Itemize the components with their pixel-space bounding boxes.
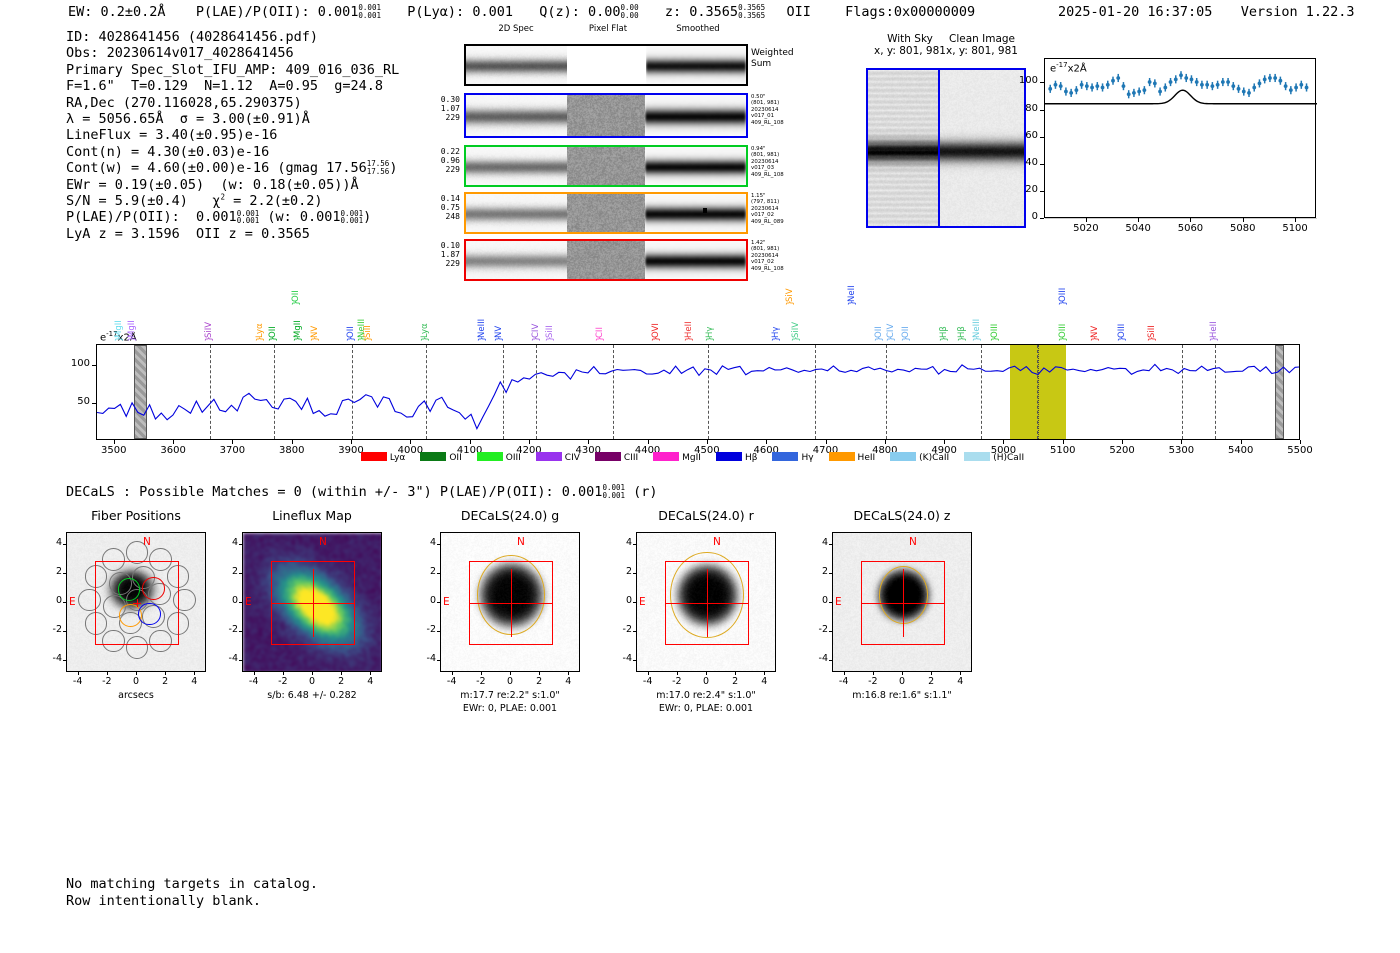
thumbnail-ytick: 2 xyxy=(218,566,238,577)
thumbnail-ytick: 2 xyxy=(42,566,62,577)
thumbnail-ytick-mark xyxy=(633,573,636,574)
thumbnail-ytick-mark xyxy=(239,602,242,603)
thumbnail-ytick-mark xyxy=(239,544,242,545)
thumbnail-xtick-mark xyxy=(873,672,874,675)
thumbnail-image xyxy=(636,532,776,672)
thumbnail-ytick: -2 xyxy=(42,624,62,635)
thumbnail-ytick-mark xyxy=(829,544,832,545)
thumbnail-ytick-mark xyxy=(633,631,636,632)
thumbnail-xtick-mark xyxy=(706,672,707,675)
thumbnail-ytick-mark xyxy=(63,573,66,574)
thumbnail-xtick: 0 xyxy=(122,676,150,687)
thumbnail-ytick-mark xyxy=(63,660,66,661)
thumbnail-xtick-mark xyxy=(539,672,540,675)
thumbnail-xtick-mark xyxy=(283,672,284,675)
thumbnail-ytick-mark xyxy=(829,660,832,661)
thumbnail-caption: s/b: 6.48 +/- 0.282 xyxy=(208,690,416,702)
thumbnail-title: DECaLS(24.0) z xyxy=(802,508,1002,523)
thumbnail-ytick-mark xyxy=(437,660,440,661)
thumbnail-xtick-mark xyxy=(677,672,678,675)
thumbnail-xtick: -4 xyxy=(634,676,662,687)
thumbnail-caption-secondary: EWr: 0, PLAE: 0.001 xyxy=(406,703,614,715)
thumbnail-xtick: 4 xyxy=(946,676,974,687)
thumbnail-ytick-mark xyxy=(633,602,636,603)
thumbnail-title: DECaLS(24.0) g xyxy=(410,508,610,523)
thumbnail-ytick-mark xyxy=(437,544,440,545)
thumbnail-xtick: -4 xyxy=(830,676,858,687)
aperture-box xyxy=(665,561,750,646)
thumbnail-image xyxy=(832,532,972,672)
compass-east-label: E xyxy=(443,596,450,608)
thumbnail-xtick-mark xyxy=(194,672,195,675)
thumbnail-image xyxy=(242,532,382,672)
thumbnail-ytick-mark xyxy=(437,631,440,632)
thumbnail-ytick-mark xyxy=(239,573,242,574)
thumbnail-ytick: 0 xyxy=(218,595,238,606)
thumbnail-xtick: -2 xyxy=(859,676,887,687)
thumbnail-xtick-mark xyxy=(136,672,137,675)
thumbnail-xtick-mark xyxy=(510,672,511,675)
thumbnail-image xyxy=(440,532,580,672)
thumbnail-ytick-mark xyxy=(239,660,242,661)
aperture-box xyxy=(271,561,356,646)
thumbnail-xtick-mark xyxy=(931,672,932,675)
compass-east-label: E xyxy=(245,596,252,608)
thumbnail-xtick-mark xyxy=(735,672,736,675)
compass-north-label: N xyxy=(909,536,917,548)
thumbnail-xtick-mark xyxy=(452,672,453,675)
thumbnail-xtick-mark xyxy=(254,672,255,675)
compass-east-label: E xyxy=(639,596,646,608)
thumbnail-ytick-mark xyxy=(829,573,832,574)
thumbnail-row: Fiber PositionsNE-4-4-2-2002244arcsecsLi… xyxy=(0,0,1400,953)
thumbnail-xtick-mark xyxy=(370,672,371,675)
thumbnail-xtick: 4 xyxy=(356,676,384,687)
thumbnail-ytick: -4 xyxy=(42,653,62,664)
thumbnail-ytick: 4 xyxy=(612,537,632,548)
thumbnail-ytick: -2 xyxy=(218,624,238,635)
thumbnail-title: Fiber Positions xyxy=(36,508,236,523)
thumbnail-ytick: 4 xyxy=(42,537,62,548)
thumbnail-xtick: -2 xyxy=(663,676,691,687)
compass-north-label: N xyxy=(319,536,327,548)
thumbnail-xtick: 2 xyxy=(525,676,553,687)
thumbnail-xlabel: arcsecs xyxy=(36,690,236,702)
compass-north-label: N xyxy=(143,536,151,548)
thumbnail-ytick-mark xyxy=(437,602,440,603)
footer-line-1: No matching targets in catalog. xyxy=(66,876,318,893)
thumbnail-xtick: -4 xyxy=(240,676,268,687)
compass-east-label: E xyxy=(69,596,76,608)
thumbnail-xtick-mark xyxy=(107,672,108,675)
thumbnail-xtick-mark xyxy=(341,672,342,675)
compass-north-label: N xyxy=(713,536,721,548)
thumbnail-ytick-mark xyxy=(633,544,636,545)
thumbnail-xtick: 0 xyxy=(692,676,720,687)
thumbnail-ytick: 4 xyxy=(808,537,828,548)
thumbnail-ytick-mark xyxy=(63,544,66,545)
thumbnail-ytick-mark xyxy=(437,573,440,574)
thumbnail-xtick-mark xyxy=(648,672,649,675)
thumbnail-ytick: -4 xyxy=(612,653,632,664)
footer-line-2: Row intentionally blank. xyxy=(66,893,318,910)
thumbnail-xtick: 4 xyxy=(750,676,778,687)
thumbnail-xtick: 2 xyxy=(721,676,749,687)
thumbnail-ytick-mark xyxy=(829,631,832,632)
thumbnail-ytick: -4 xyxy=(416,653,436,664)
thumbnail-caption: m:16.8 re:1.6" s:1.1" xyxy=(798,690,1006,702)
thumbnail-title: Lineflux Map xyxy=(212,508,412,523)
thumbnail-ytick: 0 xyxy=(808,595,828,606)
thumbnail-ytick: -2 xyxy=(808,624,828,635)
thumbnail-ytick: 2 xyxy=(416,566,436,577)
thumbnail-xtick: 4 xyxy=(554,676,582,687)
aperture-box xyxy=(861,561,946,646)
thumbnail-xtick: -2 xyxy=(269,676,297,687)
thumbnail-ytick-mark xyxy=(63,602,66,603)
thumbnail-xtick-mark xyxy=(844,672,845,675)
thumbnail-caption: m:17.0 re:2.4" s:1.0" xyxy=(602,690,810,702)
thumbnail-title: DECaLS(24.0) r xyxy=(606,508,806,523)
thumbnail-ytick: -4 xyxy=(218,653,238,664)
thumbnail-xtick-mark xyxy=(165,672,166,675)
thumbnail-image xyxy=(66,532,206,672)
thumbnail-xtick: 2 xyxy=(151,676,179,687)
footer-note: No matching targets in catalog. Row inte… xyxy=(66,876,318,910)
thumbnail-caption: m:17.7 re:2.2" s:1.0" xyxy=(406,690,614,702)
thumbnail-xtick: -2 xyxy=(93,676,121,687)
thumbnail-ytick-mark xyxy=(239,631,242,632)
thumbnail-ytick-mark xyxy=(829,602,832,603)
thumbnail-ytick: 2 xyxy=(612,566,632,577)
thumbnail-ytick: -2 xyxy=(416,624,436,635)
thumbnail-ytick-mark xyxy=(63,631,66,632)
aperture-box xyxy=(95,561,180,646)
thumbnail-ytick: 0 xyxy=(612,595,632,606)
thumbnail-xtick: -2 xyxy=(467,676,495,687)
thumbnail-xtick: 2 xyxy=(917,676,945,687)
thumbnail-ytick: 0 xyxy=(42,595,62,606)
compass-north-label: N xyxy=(517,536,525,548)
thumbnail-xtick-mark xyxy=(902,672,903,675)
thumbnail-caption-secondary: EWr: 0, PLAE: 0.001 xyxy=(602,703,810,715)
thumbnail-ytick: -4 xyxy=(808,653,828,664)
thumbnail-xtick-mark xyxy=(481,672,482,675)
thumbnail-xtick: 2 xyxy=(327,676,355,687)
thumbnail-xtick-mark xyxy=(960,672,961,675)
thumbnail-xtick: -4 xyxy=(438,676,466,687)
thumbnail-xtick-mark xyxy=(568,672,569,675)
thumbnail-xtick: 4 xyxy=(180,676,208,687)
thumbnail-xtick: 0 xyxy=(496,676,524,687)
thumbnail-ytick: -2 xyxy=(612,624,632,635)
thumbnail-ytick: 4 xyxy=(218,537,238,548)
aperture-box xyxy=(469,561,554,646)
thumbnail-ytick: 4 xyxy=(416,537,436,548)
thumbnail-ytick-mark xyxy=(633,660,636,661)
thumbnail-xtick: 0 xyxy=(298,676,326,687)
thumbnail-ytick: 2 xyxy=(808,566,828,577)
thumbnail-xtick-mark xyxy=(764,672,765,675)
thumbnail-xtick-mark xyxy=(78,672,79,675)
thumbnail-ytick: 0 xyxy=(416,595,436,606)
thumbnail-xtick-mark xyxy=(312,672,313,675)
thumbnail-xtick: 0 xyxy=(888,676,916,687)
thumbnail-xtick: -4 xyxy=(64,676,92,687)
compass-east-label: E xyxy=(835,596,842,608)
